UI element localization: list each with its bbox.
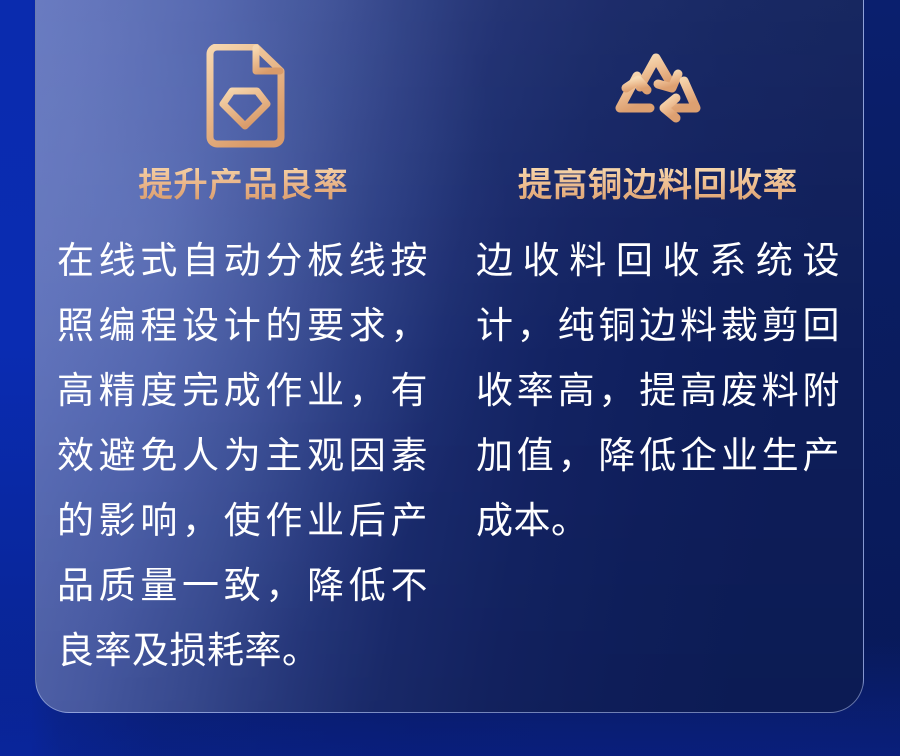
card-title: 提升产品良率	[57, 168, 430, 202]
card-description: 边收料回收系统设计，纯铜边料裁剪回收率高，提高废料附加值，降低企业生产成本。	[476, 228, 840, 553]
promo-banner: 提升产品良率 在线式自动分板线按照编程设计的要求，高精度完成作业，有效避免人为主…	[0, 0, 900, 756]
feature-columns: 提升产品良率 在线式自动分板线按照编程设计的要求，高精度完成作业，有效避免人为主…	[35, 0, 864, 756]
recycle-icon	[476, 0, 840, 148]
document-diamond-icon	[57, 0, 430, 148]
card-title: 提高铜边料回收率	[476, 168, 840, 202]
card-description: 在线式自动分板线按照编程设计的要求，高精度完成作业，有效避免人为主观因素的影响，…	[57, 228, 430, 683]
feature-card-yield: 提升产品良率 在线式自动分板线按照编程设计的要求，高精度完成作业，有效避免人为主…	[35, 0, 450, 756]
feature-card-copper-recycle: 提高铜边料回收率 边收料回收系统设计，纯铜边料裁剪回收率高，提高废料附加值，降低…	[450, 0, 864, 756]
